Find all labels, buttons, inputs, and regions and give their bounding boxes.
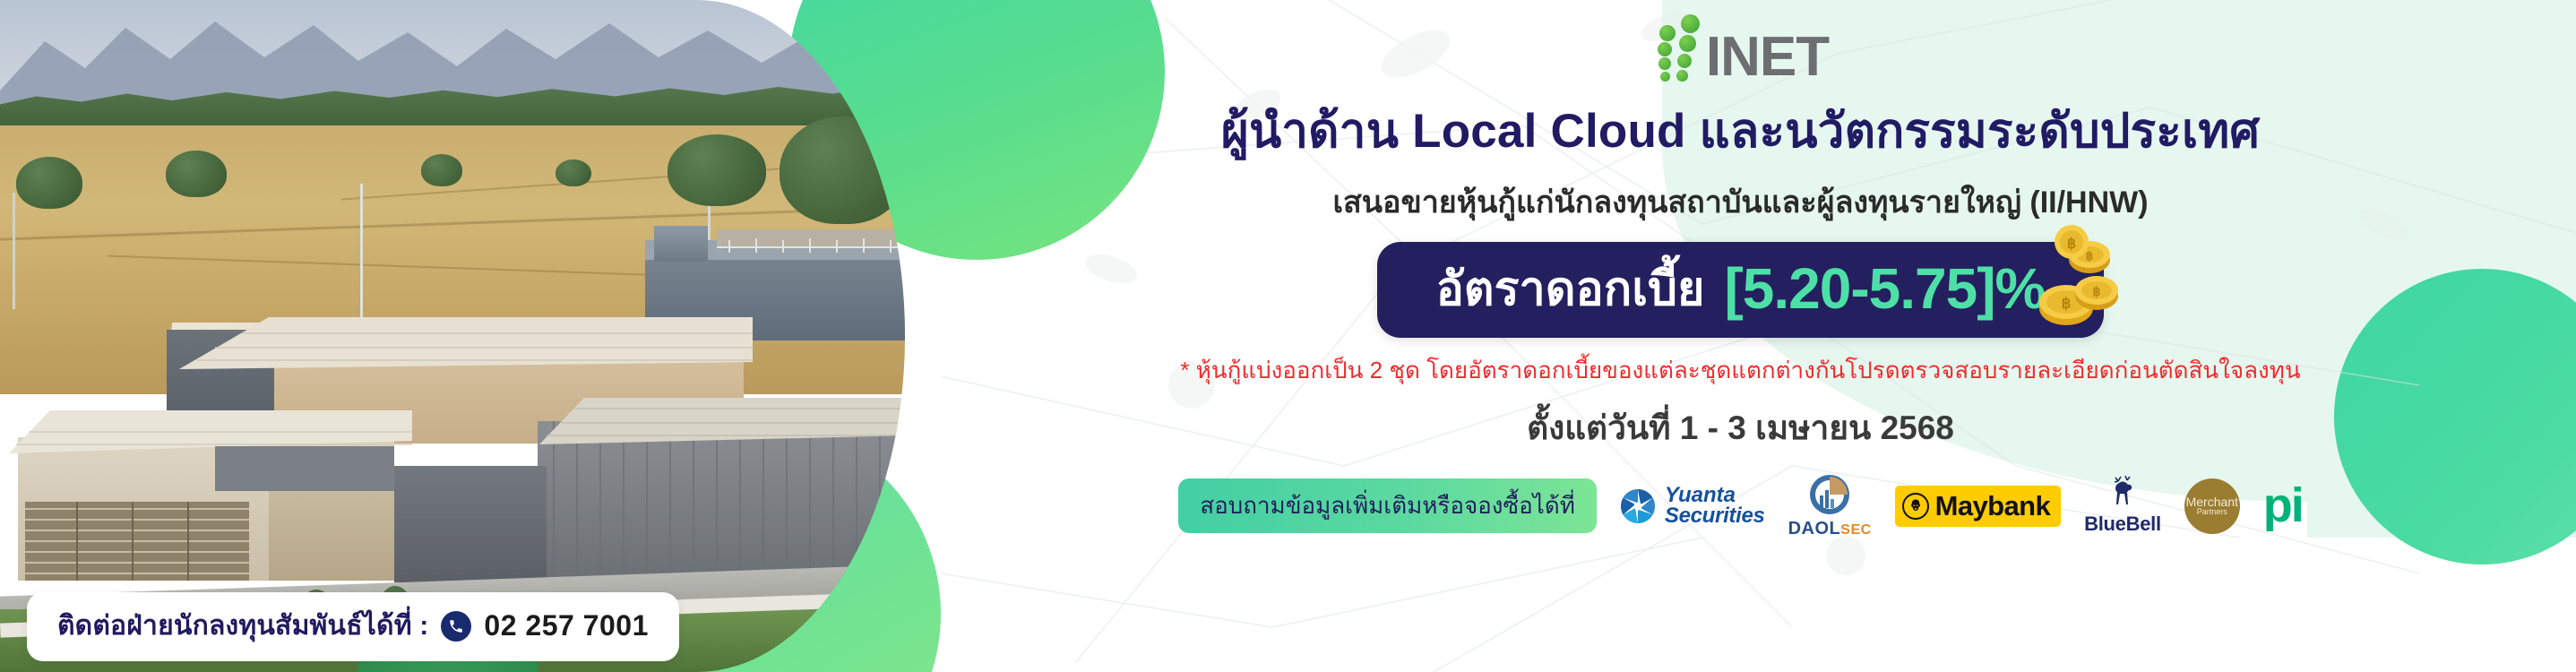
merchant-line-1: Merchant — [2186, 495, 2238, 508]
svg-text:฿: ฿ — [2062, 295, 2072, 312]
broker-maybank[interactable]: Maybank — [1895, 486, 2061, 527]
contact-label: ติดต่อฝ่ายนักลงทุนสัมพันธ์ได้ที่ : — [57, 605, 428, 647]
daol-circle-icon — [1807, 472, 1852, 517]
broker-daol-sec[interactable]: DAOLSEC — [1788, 472, 1872, 539]
interest-rate-label: อัตราดอกเบี้ย — [1436, 251, 1705, 325]
more-info-button[interactable]: สอบถามข้อมูลเพิ่มเติมหรือจองซื้อได้ที่ — [1178, 478, 1597, 533]
gold-coins-icon: ฿ ฿ ฿ ฿ — [2025, 222, 2124, 328]
datacenter-photo — [0, 0, 905, 672]
inet-logo-wordmark: INET — [1706, 33, 1829, 82]
phone-icon — [441, 611, 471, 642]
bluebell-wordmark: BlueBell — [2084, 513, 2161, 536]
broker-bluebell[interactable]: BlueBell — [2084, 476, 2161, 536]
inet-bond-offering-banner: ติดต่อฝ่ายนักลงทุนสัมพันธ์ได้ที่ : 02 25… — [0, 0, 2576, 672]
page-title: ผู้นำด้าน Local Cloud และนวัตกรรมระดับปร… — [1221, 93, 2261, 168]
pi-logo-icon: pi — [2263, 487, 2303, 525]
offering-dateline: ตั้งแต่วันที่ 1 - 3 เมษายน 2568 — [1527, 401, 1954, 454]
maybank-tiger-icon — [1902, 493, 1929, 520]
bond-footnote: * หุ้นกู้แบ่งออกเป็น 2 ชุด โดยอัตราดอกเบ… — [1180, 352, 2300, 389]
svg-text:฿: ฿ — [2067, 237, 2076, 252]
contact-phone-number: 02 257 7001 — [484, 609, 648, 642]
yuanta-wordmark: Yuanta Securities — [1665, 486, 1765, 527]
svg-text:฿: ฿ — [2093, 285, 2101, 299]
maybank-wordmark: Maybank — [1935, 490, 2050, 522]
inet-logo: INET — [1652, 13, 1829, 82]
green-dots-icon — [1652, 13, 1702, 82]
yuanta-star-icon — [1618, 487, 1658, 526]
investor-relations-contact-card[interactable]: ติดต่อฝ่ายนักลงทุนสัมพันธ์ได้ที่ : 02 25… — [27, 592, 679, 661]
interest-rate-highlight: อัตราดอกเบี้ย [5.20-5.75]% ฿ ฿ ฿ — [1377, 242, 2105, 338]
svg-text:฿: ฿ — [2086, 249, 2093, 263]
yuanta-line-2: Securities — [1665, 506, 1765, 527]
broker-pi[interactable]: pi — [2263, 487, 2303, 525]
daol-word: DAOL — [1788, 519, 1841, 538]
broker-logo-list: Yuanta Securities DAOLSEC — [1618, 472, 2303, 539]
content-column: INET ผู้นำด้าน Local Cloud และนวัตกรรมระ… — [905, 0, 2576, 672]
bluebell-deer-icon — [2103, 476, 2142, 512]
cta-and-brokers-row: สอบถามข้อมูลเพิ่มเติมหรือจองซื้อได้ที่ — [1178, 472, 2303, 539]
broker-yuanta[interactable]: Yuanta Securities — [1618, 486, 1765, 527]
daol-wordmark: DAOLSEC — [1788, 519, 1872, 539]
page-subtitle: เสนอขายหุ้นกู้แก่นักลงทุนสถาบันและผู้ลงท… — [1332, 177, 2148, 226]
daol-suffix: SEC — [1840, 522, 1871, 538]
merchant-line-2: Partners — [2197, 508, 2227, 516]
interest-rate-box: อัตราดอกเบี้ย [5.20-5.75]% — [1377, 242, 2105, 338]
broker-merchant-partners[interactable]: Merchant Partners — [2184, 478, 2240, 534]
interest-rate-value: [5.20-5.75]% — [1724, 255, 2045, 322]
